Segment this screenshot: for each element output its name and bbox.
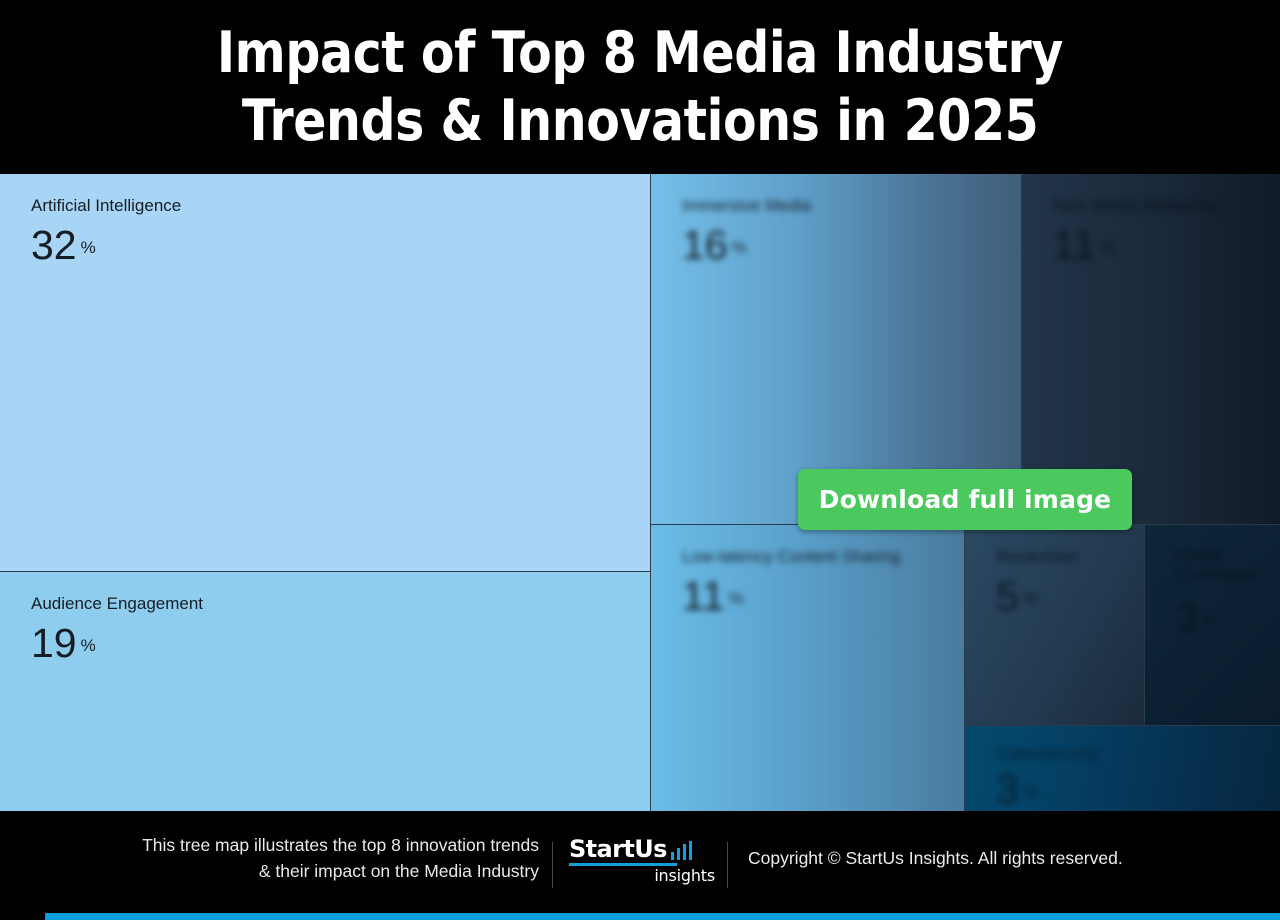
tile-value-number: 3 — [996, 766, 1019, 811]
tile-value-number: 19 — [31, 620, 77, 666]
treemap-tile-blockchain[interactable]: Blockchain 5% — [965, 525, 1145, 726]
tile-value-number: 3 — [1176, 595, 1199, 641]
page-title: Impact of Top 8 Media Industry Trends & … — [0, 0, 1280, 174]
tile-value-percent: % — [81, 238, 96, 257]
tile-label: New Media Marketing — [1053, 196, 1217, 216]
tile-value-number: 16 — [682, 222, 728, 268]
page-title-line-2: Trends & Innovations in 2025 — [242, 87, 1038, 155]
tile-label: Artificial Intelligence — [31, 196, 181, 216]
tile-value-percent: % — [1023, 782, 1038, 801]
tile-value-percent: % — [1023, 589, 1038, 608]
tile-value: 19% — [31, 620, 96, 669]
tile-label: Audience Engagement — [31, 594, 203, 614]
tile-value: 11% — [682, 573, 744, 622]
infographic-page: Impact of Top 8 Media Industry Trends & … — [0, 0, 1280, 920]
treemap-tile-audience-engagement[interactable]: Audience Engagement 19% — [0, 572, 651, 811]
tile-value-number: 11 — [1053, 222, 1096, 268]
tile-label: Immersive Media — [682, 196, 811, 216]
bar-chart-icon — [671, 844, 693, 862]
tile-label: Cybersecurity — [996, 744, 1100, 764]
footer-caption-line-2: & their impact on the Media Industry — [0, 858, 539, 884]
tile-value-number: 11 — [682, 573, 725, 619]
page-title-line-1: Impact of Top 8 Media Industry — [217, 19, 1063, 87]
logo-wordmark-row: StartUs — [569, 836, 717, 862]
treemap-tile-artificial-intelligence[interactable]: Artificial Intelligence 32% — [0, 174, 651, 572]
tile-label: Low-latency Content Sharing — [682, 547, 900, 567]
tile-value: 3% — [1176, 595, 1218, 644]
startus-insights-logo[interactable]: StartUs insights — [569, 836, 717, 884]
logo-subtitle: insights — [569, 867, 717, 885]
tile-value: 11% — [1053, 222, 1115, 271]
tile-value-percent: % — [81, 636, 96, 655]
footer-divider-left — [552, 842, 553, 888]
footer-divider-right — [727, 842, 728, 888]
tile-value-percent: % — [732, 238, 747, 257]
bottom-accent-bar — [45, 913, 1280, 920]
tile-value-number: 32 — [31, 222, 77, 268]
treemap-tile-social-commerce[interactable]: Social Commerce 3% — [1145, 525, 1280, 726]
treemap-tile-cybersecurity[interactable]: Cybersecurity 3% — [965, 726, 1280, 811]
tile-label: Blockchain — [996, 547, 1078, 567]
tile-value-percent: % — [1100, 238, 1115, 257]
tile-value-number: 5 — [996, 573, 1019, 619]
tile-label: Social Commerce — [1176, 545, 1280, 585]
download-full-image-button[interactable]: Download full image — [798, 469, 1132, 530]
tile-value-percent: % — [1203, 611, 1218, 630]
tile-value: 32% — [31, 222, 96, 271]
copyright-text: Copyright © StartUs Insights. All rights… — [748, 845, 1123, 871]
tile-value: 5% — [996, 573, 1038, 622]
tile-value: 16% — [682, 222, 747, 271]
footer-caption: This tree map illustrates the top 8 inno… — [0, 832, 539, 884]
logo-wordmark: StartUs — [569, 836, 667, 862]
tile-value: 3% — [996, 766, 1038, 811]
treemap-tile-low-latency-content-sharing[interactable]: Low-latency Content Sharing 11% — [651, 525, 965, 811]
footer-caption-line-1: This tree map illustrates the top 8 inno… — [0, 832, 539, 858]
tile-value-percent: % — [729, 589, 744, 608]
